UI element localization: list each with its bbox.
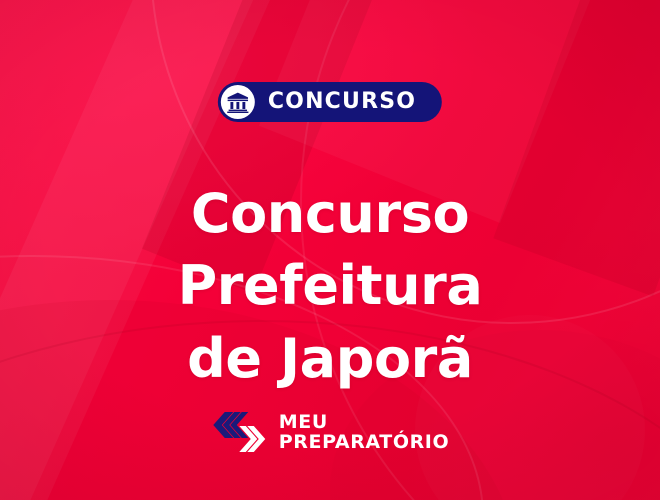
badge-icon-circle [221,85,255,119]
brand-line-1: MEU [279,412,449,432]
concurso-badge: CONCURSO [218,82,442,122]
title-line-1: Concurso Prefeitura [178,182,483,317]
title-line-2: de Japorã [187,327,473,390]
bank-building-icon [227,92,249,113]
badge-label: CONCURSO [268,91,416,113]
promo-banner: CONCURSO Concurso Prefeitura de Japorã [0,0,660,500]
brand-footer: MEU PREPARATÓRIO [211,408,449,456]
page-title: Concurso Prefeitura de Japorã [0,178,660,395]
double-chevron-logo-icon [211,408,269,456]
brand-line-2: PREPARATÓRIO [279,432,449,452]
banner-content: CONCURSO Concurso Prefeitura de Japorã [0,0,660,500]
brand-name: MEU PREPARATÓRIO [279,412,449,452]
